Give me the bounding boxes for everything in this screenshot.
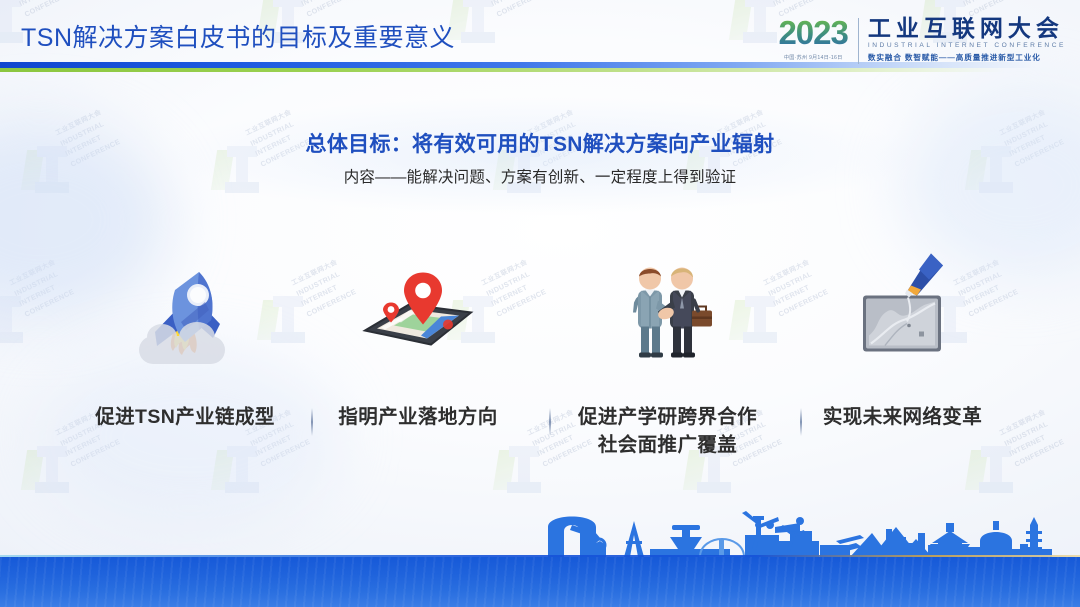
logo-name-en: INDUSTRIAL INTERNET CONFERENCE	[868, 42, 1066, 49]
logo-name-block: 工业互联网大会 INDUSTRIAL INTERNET CONFERENCE 数…	[868, 16, 1066, 63]
pillar-caption-4: 实现未来网络变革	[800, 404, 1005, 432]
pillar-icon-cell-4	[805, 240, 1005, 380]
pillar-caption-4-line1: 实现未来网络变革	[800, 404, 1005, 432]
map-pin-phone-icon	[347, 253, 487, 368]
pillar-icon-cell-3	[565, 240, 765, 380]
handshake-icon	[600, 243, 730, 378]
footer-skyline	[0, 515, 1080, 607]
pillar-caption-2: 指明产业落地方向	[308, 404, 528, 432]
pillar-caption-3-line1: 促进产学研跨界合作	[545, 404, 790, 432]
pillar-icon-row	[0, 240, 1080, 380]
page-title: TSN解决方案白皮书的目标及重要意义	[21, 18, 455, 54]
pillar-caption-2-line1: 指明产业落地方向	[308, 404, 528, 432]
headline-sub: 内容——能解决问题、方案有创新、一定程度上得到验证	[0, 165, 1080, 187]
pillar-icon-cell-2	[317, 240, 517, 380]
pillar-caption-3: 促进产学研跨界合作 社会面推广覆盖	[545, 404, 790, 459]
pillar-caption-row: 促进TSN产业链成型 指明产业落地方向 促进产学研跨界合作 社会面推广覆盖 实现…	[0, 404, 1080, 466]
pillar-caption-1: 促进TSN产业链成型	[70, 404, 300, 432]
logo-year-number: 2023	[778, 16, 847, 49]
logo-divider	[858, 18, 859, 64]
logo-slogan: 数实融合 数智赋能——高质量推进新型工业化	[868, 52, 1066, 63]
pillar-caption-1-line1: 促进TSN产业链成型	[70, 404, 300, 432]
sea-texture	[0, 557, 1080, 607]
logo-name-cn: 工业互联网大会	[868, 16, 1066, 40]
slide-header: TSN解决方案白皮书的目标及重要意义 2023 中国·苏州 9月14日-16日 …	[0, 0, 1080, 84]
rocket-smoke-cloud	[139, 336, 225, 364]
city-silhouette	[0, 511, 1080, 557]
pen-tablet-icon	[845, 248, 965, 373]
pillar-icon-cell-1	[85, 240, 285, 380]
pillar-caption-3-line2: 社会面推广覆盖	[545, 432, 790, 460]
logo-year-block: 2023 中国·苏州 9月14日-16日	[778, 16, 857, 61]
headline-main: 总体目标：将有效可用的TSN解决方案向产业辐射	[0, 128, 1080, 158]
slide-root: 工业互联网大会INDUSTRIALINTERNETCONFERENCE工业互联网…	[0, 0, 1080, 607]
rocket-icon	[125, 250, 245, 370]
headline-block: 总体目标：将有效可用的TSN解决方案向产业辐射 内容——能解决问题、方案有创新、…	[0, 128, 1080, 187]
logo-year-subtitle: 中国·苏州 9月14日-16日	[778, 54, 847, 61]
conference-logo: 2023 中国·苏州 9月14日-16日 工业互联网大会 INDUSTRIAL …	[778, 16, 1066, 78]
